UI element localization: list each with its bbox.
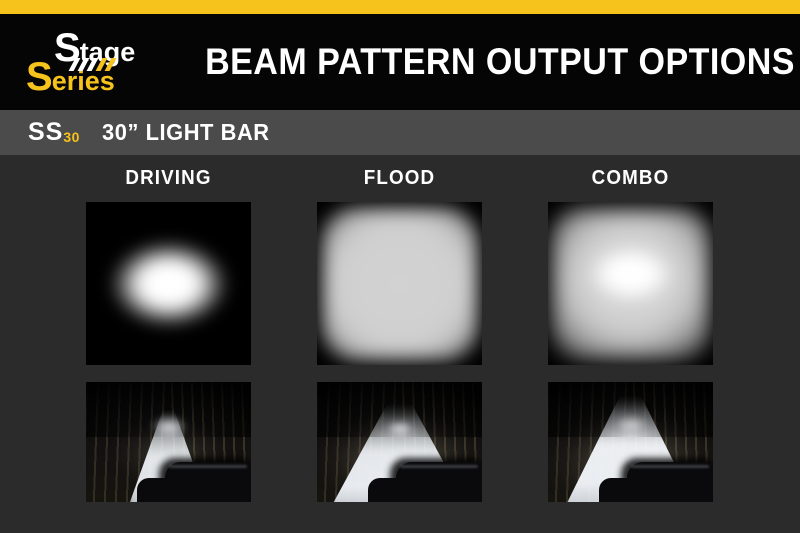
road-photo-driving: [86, 382, 251, 502]
sku-badge: SS 30: [28, 120, 80, 145]
vehicle-hood-silhouette: [396, 462, 482, 502]
beam-hotspot-driving: [106, 238, 231, 330]
tree-canopy-shadow: [548, 382, 713, 437]
product-subbar: SS 30 30” LIGHT BAR: [0, 110, 800, 155]
stage-series-logo: Stage Series: [26, 28, 194, 98]
column-title-driving: DRIVING: [91, 155, 246, 202]
sku-main-label: SS: [28, 120, 63, 145]
beam-hotspot-combo: [579, 239, 683, 309]
beam-pattern-poster: Stage Series BEAM PATTERN OUTPUT OPTIONS…: [0, 0, 800, 533]
poster-header: Stage Series BEAM PATTERN OUTPUT OPTIONS: [0, 14, 800, 110]
road-photo-flood: [317, 382, 482, 502]
column-driving: DRIVING: [86, 155, 251, 502]
column-combo: COMBO: [548, 155, 713, 502]
page-title: BEAM PATTERN OUTPUT OPTIONS: [233, 14, 767, 110]
vehicle-hood-silhouette: [165, 462, 251, 502]
road-photo-combo: [548, 382, 713, 502]
beam-pattern-flood: [317, 202, 482, 365]
logo-word-series: Series: [26, 57, 115, 97]
vehicle-hood-highlight: [169, 465, 247, 468]
comparison-grid: DRIVING FLOOD: [0, 155, 800, 533]
logo-series-rest: eries: [52, 68, 115, 95]
column-flood: FLOOD: [317, 155, 482, 502]
vehicle-hood-highlight: [400, 465, 478, 468]
vehicle-hood-silhouette: [627, 462, 713, 502]
tree-canopy-shadow: [86, 382, 251, 437]
sku-subscript-label: 30: [63, 130, 80, 145]
vehicle-hood-highlight: [631, 465, 709, 468]
beam-pattern-driving: [86, 202, 251, 365]
product-description: 30” LIGHT BAR: [102, 119, 270, 146]
top-accent-bar: [0, 0, 800, 14]
column-title-flood: FLOOD: [322, 155, 477, 202]
tree-canopy-shadow: [317, 382, 482, 437]
logo-series-capital: S: [26, 57, 52, 97]
beam-hotspot-flood: [322, 208, 478, 360]
column-title-combo: COMBO: [553, 155, 708, 202]
beam-pattern-combo: [548, 202, 713, 365]
